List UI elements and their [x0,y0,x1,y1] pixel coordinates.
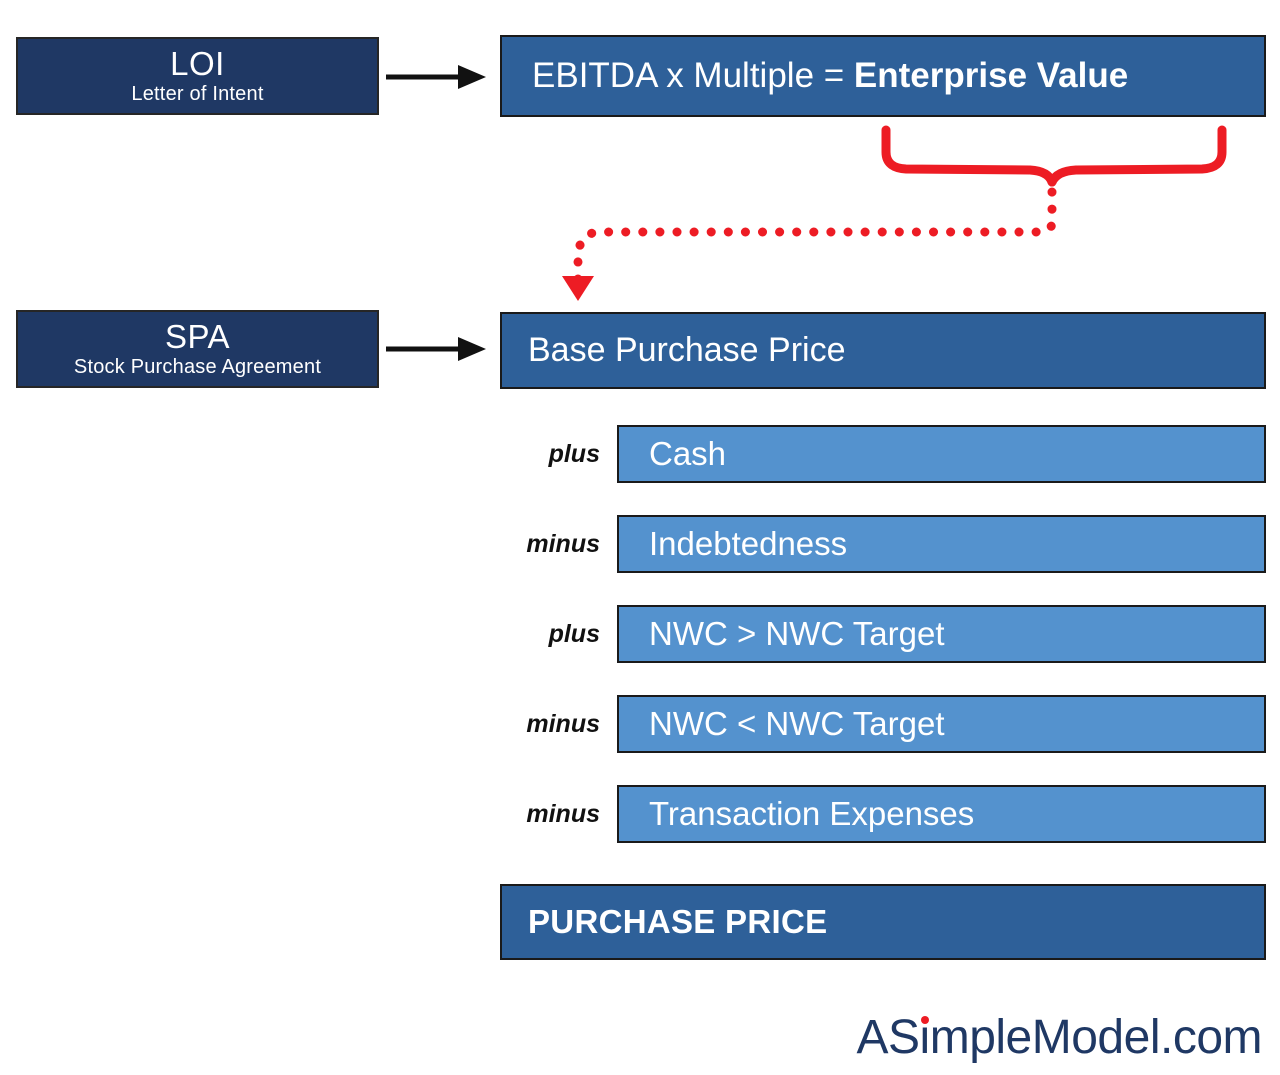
adjustment-label: NWC > NWC Target [619,615,945,653]
formula-text: EBITDA x Multiple = Enterprise Value [502,56,1128,96]
operator-label-plus-2: plus [495,605,600,663]
adjustment-label: Cash [619,435,726,473]
logo-part-rest: mpleModel.com [930,1011,1262,1064]
adjustment-bar: Transaction Expenses [617,785,1266,843]
arrow-right-icon-loi [386,60,490,94]
operator-label-minus-4: minus [495,785,600,843]
adjustment-bar: NWC < NWC Target [617,695,1266,753]
adjustment-bar: Cash [617,425,1266,483]
spa-abbreviation: SPA [165,320,230,355]
loi-full-name: Letter of Intent [131,84,263,105]
enterprise-value-formula-bar: EBITDA x Multiple = Enterprise Value [500,35,1266,117]
red-dot-icon [921,1016,929,1024]
formula-prefix: EBITDA x Multiple = [532,56,854,95]
operator-label-minus-3: minus [495,695,600,753]
purchase-price-total-bar: PURCHASE PRICE [500,884,1266,960]
operator-label-plus-0: plus [495,425,600,483]
spa-document-box: SPA Stock Purchase Agreement [16,310,379,388]
adjustment-label: NWC < NWC Target [619,705,945,743]
curly-brace-icon [886,130,1222,182]
base-purchase-price-bar: Base Purchase Price [500,312,1266,389]
adjustment-label: Transaction Expenses [619,795,974,833]
dotted-arrow-down-left-icon [562,192,1052,301]
adjustment-label: Indebtedness [619,525,847,563]
purchase-price-total-label: PURCHASE PRICE [502,903,827,941]
arrow-right-icon-spa [386,332,490,366]
adjustment-bar: NWC > NWC Target [617,605,1266,663]
diagram-canvas: LOI Letter of Intent EBITDA x Multiple =… [0,0,1280,1075]
loi-abbreviation: LOI [170,47,225,82]
operator-label-minus-1: minus [495,515,600,573]
adjustment-bar: Indebtedness [617,515,1266,573]
logo-letter-i-with-red-dot: i [920,1010,930,1065]
logo-part-a: AS [857,1011,920,1064]
base-purchase-price-label: Base Purchase Price [502,331,846,370]
spa-full-name: Stock Purchase Agreement [74,357,321,378]
loi-document-box: LOI Letter of Intent [16,37,379,115]
formula-result: Enterprise Value [854,56,1128,95]
asimplemodel-logo[interactable]: ASimpleModel.com [857,1010,1263,1065]
